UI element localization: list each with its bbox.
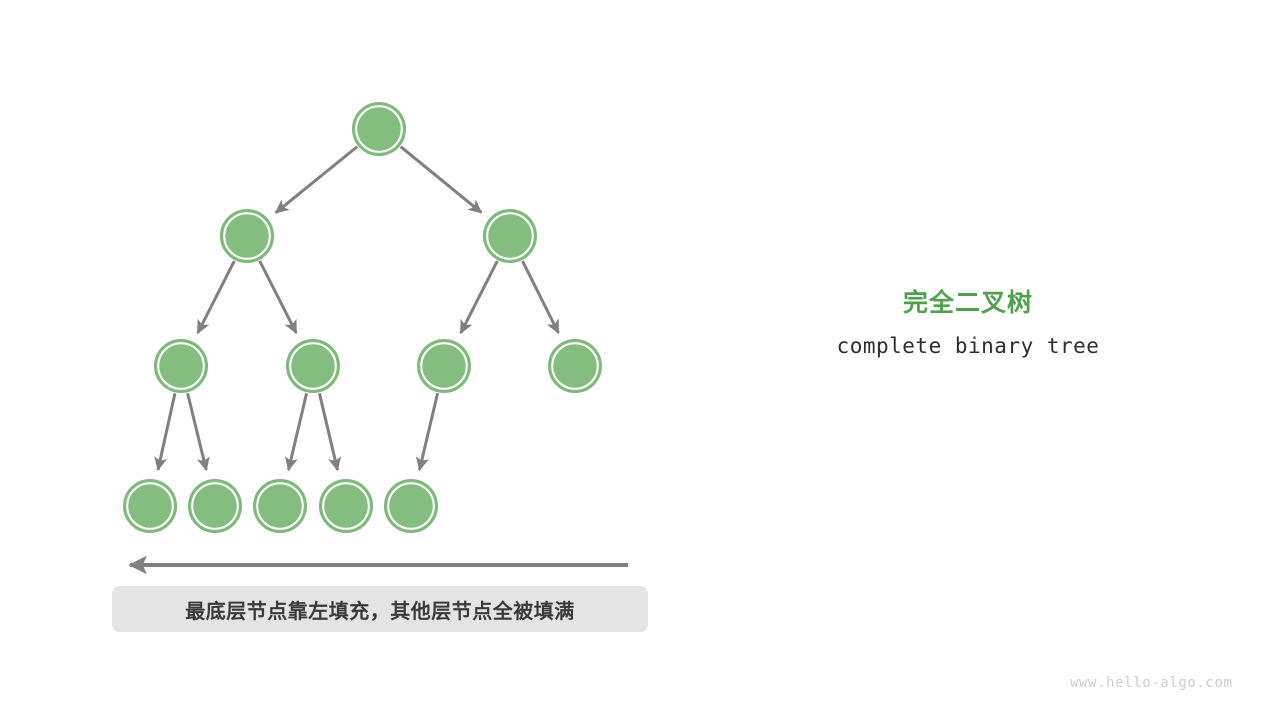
- tree-edge: [288, 393, 306, 470]
- tree-node: [418, 340, 470, 392]
- tree-nodes-group: [124, 103, 601, 532]
- tree-node: [221, 210, 273, 262]
- tree-node-core: [226, 215, 268, 257]
- caption-banner: 最底层节点靠左填充，其他层节点全被填满: [112, 586, 648, 632]
- tree-node-core: [325, 485, 367, 527]
- tree-node: [353, 103, 405, 155]
- tree-edge: [401, 147, 482, 213]
- tree-node: [254, 480, 306, 532]
- tree-node-core: [390, 485, 432, 527]
- tree-node-core: [489, 215, 531, 257]
- tree-node: [484, 210, 536, 262]
- tree-node: [385, 480, 437, 532]
- legend-subtitle: complete binary tree: [768, 334, 1168, 359]
- tree-node: [549, 340, 601, 392]
- tree-edge: [198, 261, 235, 333]
- tree-node-core: [194, 485, 236, 527]
- tree-edge: [188, 393, 207, 470]
- tree-edge: [319, 393, 337, 470]
- tree-edge: [461, 261, 498, 333]
- tree-node-core: [554, 345, 596, 387]
- tree-edge: [419, 393, 437, 470]
- tree-node-core: [358, 108, 400, 150]
- legend-title: 完全二叉树: [768, 288, 1168, 318]
- tree-node: [124, 480, 176, 532]
- watermark: www.hello-algo.com: [1070, 675, 1233, 691]
- tree-node-core: [292, 345, 334, 387]
- tree-node-core: [160, 345, 202, 387]
- tree-node: [189, 480, 241, 532]
- legend-block: 完全二叉树 complete binary tree: [768, 288, 1168, 359]
- tree-edge: [260, 261, 297, 333]
- tree-node: [155, 340, 207, 392]
- caption-text: 最底层节点靠左填充，其他层节点全被填满: [185, 595, 575, 624]
- tree-edge: [276, 147, 358, 213]
- tree-node: [320, 480, 372, 532]
- tree-edge: [523, 261, 559, 333]
- tree-node-core: [129, 485, 171, 527]
- tree-node-core: [423, 345, 465, 387]
- tree-node: [287, 340, 339, 392]
- tree-edge: [158, 393, 175, 470]
- tree-node-core: [259, 485, 301, 527]
- tree-edges-group: [158, 147, 558, 470]
